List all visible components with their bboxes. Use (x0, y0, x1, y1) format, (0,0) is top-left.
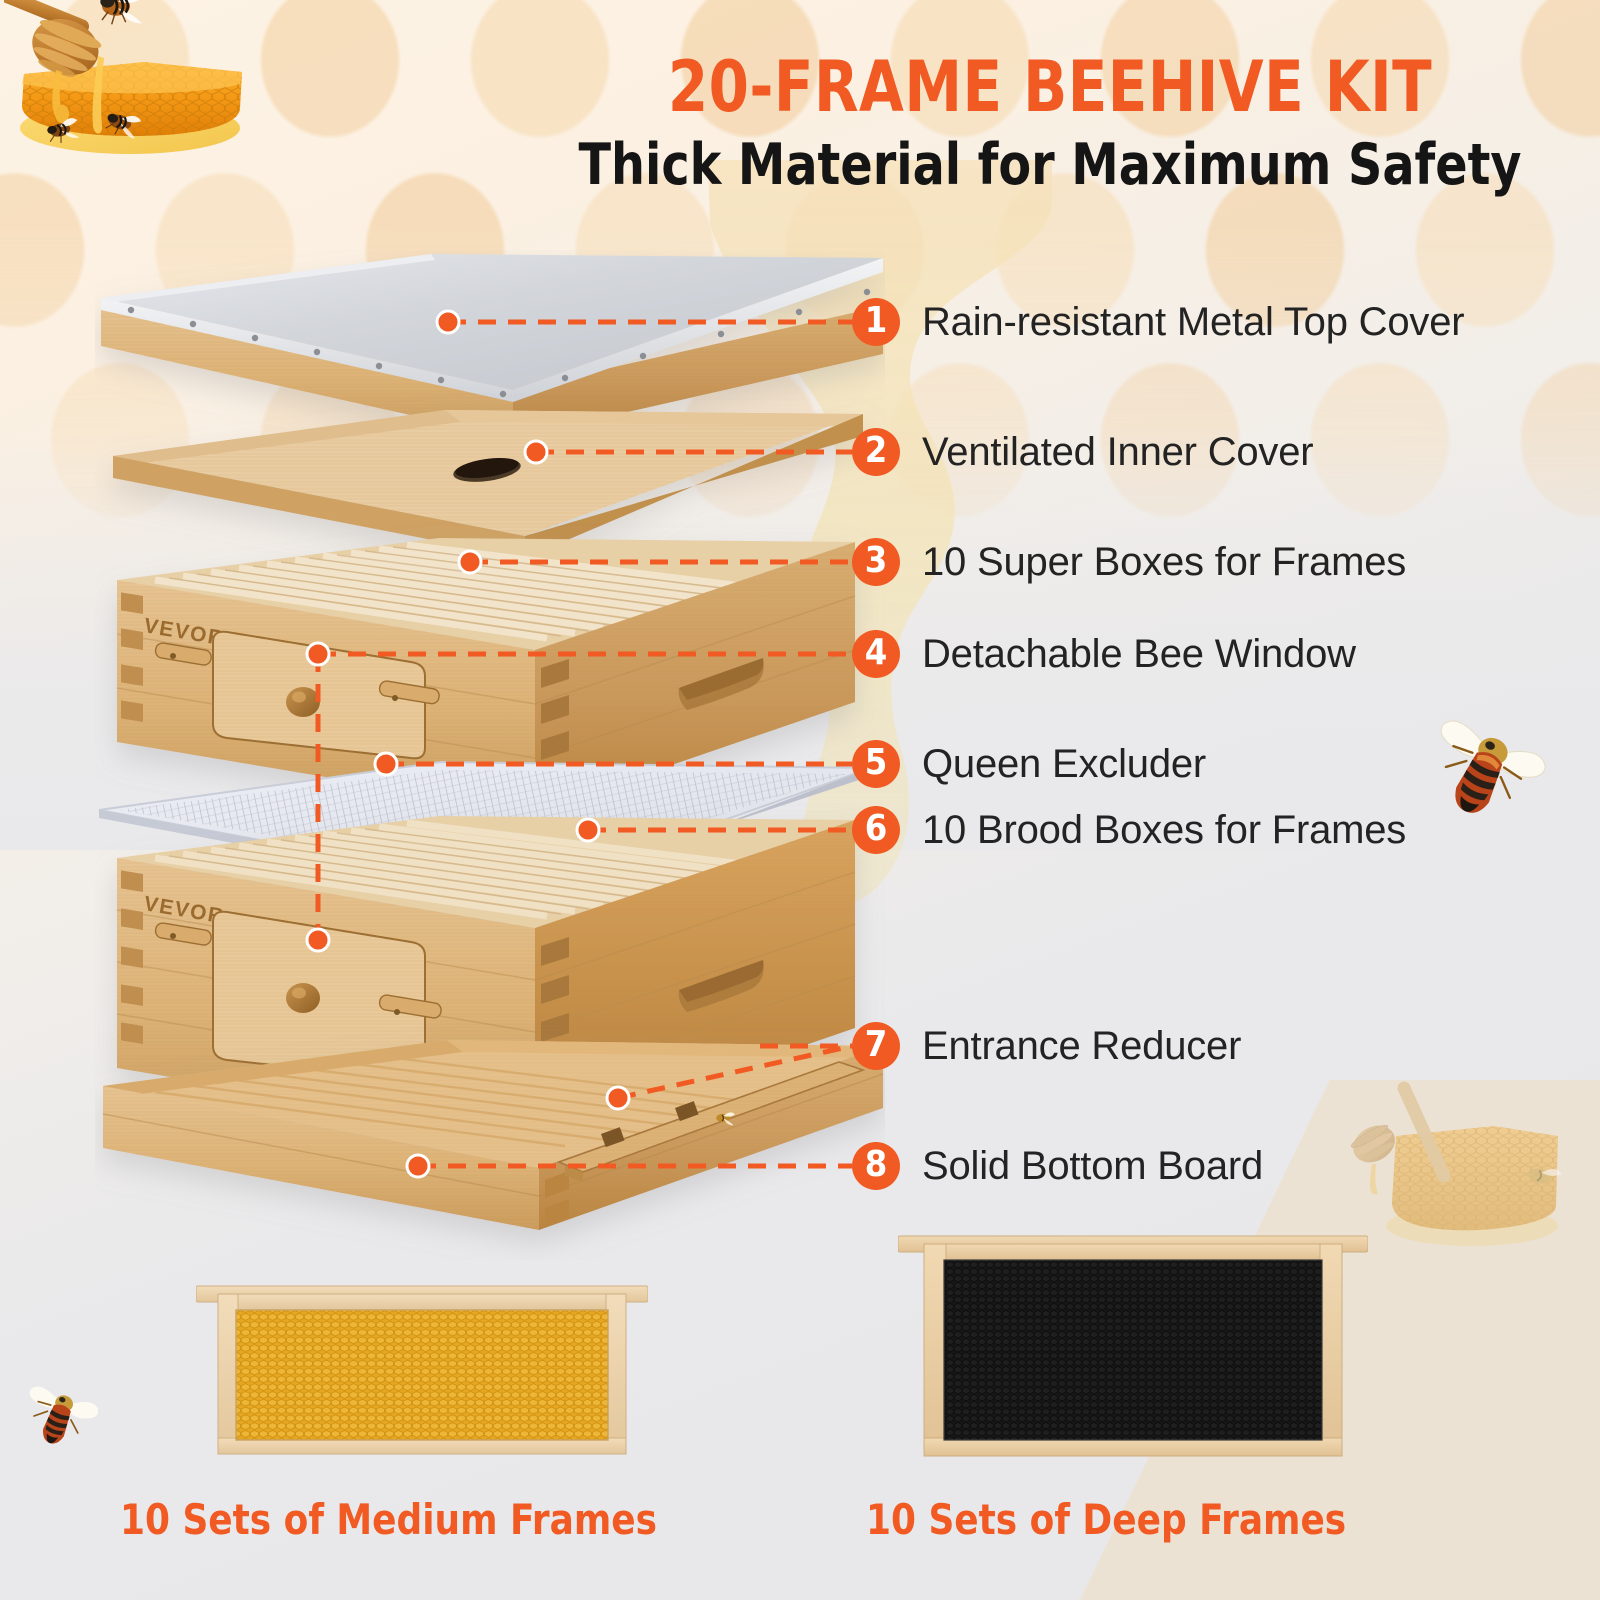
metal-top-cover-part (101, 254, 883, 438)
callout-number-7: 7 (852, 1022, 900, 1070)
callout-number-3: 3 (852, 538, 900, 586)
foundation-black (944, 1260, 1322, 1440)
callout-label-7: Entrance Reducer (922, 1024, 1241, 1069)
callout-label-2: Ventilated Inner Cover (922, 430, 1313, 475)
medium-frame-illustration (196, 1266, 648, 1466)
callout-1[interactable]: 1 Rain-resistant Metal Top Cover (852, 295, 1464, 349)
bee-icon-right (1428, 712, 1546, 820)
header-block: 20-FRAME BEEHIVE KIT Thick Material for … (530, 52, 1570, 196)
callout-7[interactable]: 7 Entrance Reducer (852, 1019, 1241, 1073)
callout-label-4: Detachable Bee Window (922, 632, 1356, 677)
callout-label-5: Queen Excluder (922, 742, 1206, 787)
callout-label-3: 10 Super Boxes for Frames (922, 540, 1406, 585)
infographic-canvas: 20-FRAME BEEHIVE KIT Thick Material for … (0, 0, 1600, 1600)
honeycomb-chunk-icon (4, 0, 304, 200)
deep-frame-illustration (898, 1212, 1368, 1470)
bee-icon-left (24, 1378, 98, 1448)
callout-8[interactable]: 8 Solid Bottom Board (852, 1139, 1263, 1193)
callout-3[interactable]: 3 10 Super Boxes for Frames (852, 535, 1406, 589)
callout-number-6: 6 (852, 806, 900, 854)
callout-number-1: 1 (852, 298, 900, 346)
callout-number-8: 8 (852, 1142, 900, 1190)
foundation-yellow (236, 1310, 608, 1440)
callout-5[interactable]: 5 Queen Excluder (852, 737, 1206, 791)
exploded-beehive-illustration: VEVOR (95, 250, 885, 1260)
page-subtitle: Thick Material for Maximum Safety (566, 136, 1533, 196)
callout-label-8: Solid Bottom Board (922, 1144, 1263, 1189)
callout-number-4: 4 (852, 630, 900, 678)
callout-2[interactable]: 2 Ventilated Inner Cover (852, 425, 1313, 479)
honey-dipper-icon (1344, 1040, 1574, 1270)
caption-deep-frames: 10 Sets of Deep Frames (866, 1495, 1346, 1544)
caption-medium-frames: 10 Sets of Medium Frames (120, 1495, 657, 1544)
callout-number-5: 5 (852, 740, 900, 788)
inner-cover-part (113, 410, 863, 558)
callout-6[interactable]: 6 10 Brood Boxes for Frames (852, 803, 1406, 857)
page-title: 20-FRAME BEEHIVE KIT (572, 52, 1529, 122)
callout-4[interactable]: 4 Detachable Bee Window (852, 627, 1356, 681)
callout-label-1: Rain-resistant Metal Top Cover (922, 300, 1464, 345)
callout-number-2: 2 (852, 428, 900, 476)
callout-label-6: 10 Brood Boxes for Frames (922, 808, 1406, 853)
